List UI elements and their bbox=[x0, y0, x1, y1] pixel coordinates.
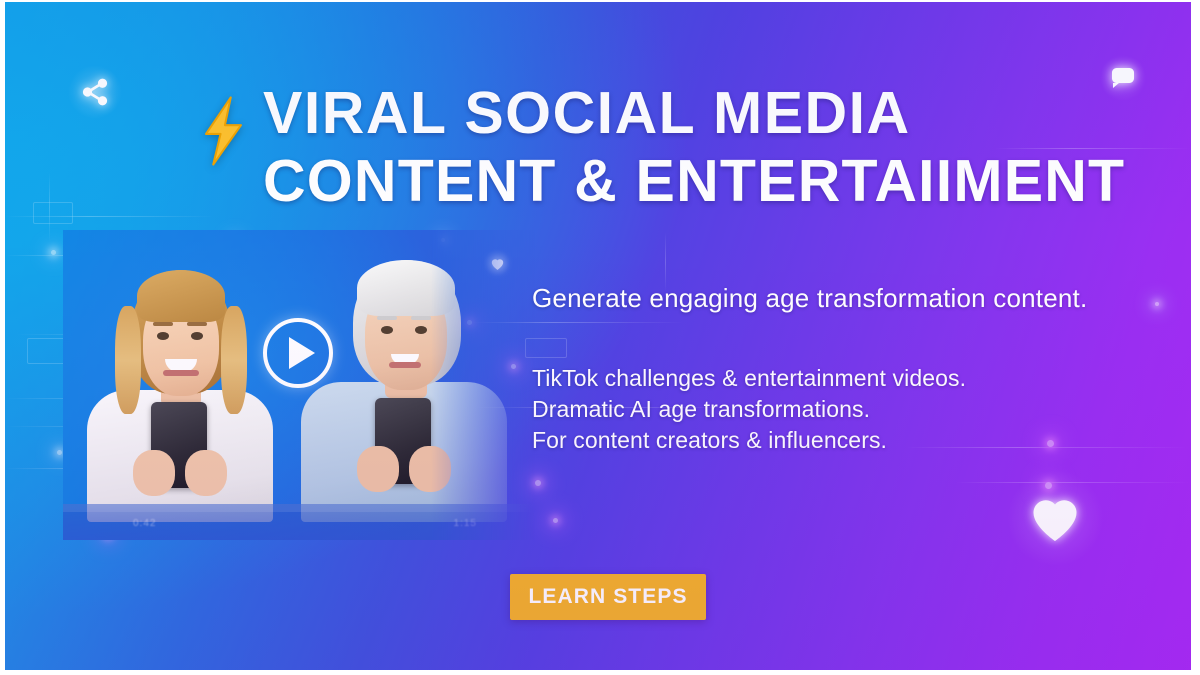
lead-paragraph: Generate engaging age transformation con… bbox=[532, 281, 1087, 315]
glow-dot bbox=[535, 480, 541, 486]
list-item: TikTok challenges & entertainment videos… bbox=[532, 363, 966, 394]
glow-dot bbox=[553, 518, 558, 523]
video-progress-track[interactable] bbox=[63, 504, 535, 512]
player-time-right: 1:15 bbox=[454, 518, 477, 529]
glow-dot bbox=[1155, 302, 1159, 306]
heart-large-icon bbox=[1005, 468, 1105, 568]
learn-steps-button[interactable]: LEARN STEPS bbox=[510, 574, 706, 620]
lightning-bolt-icon bbox=[191, 96, 253, 166]
glow-dot bbox=[57, 450, 62, 455]
circuit-chip bbox=[33, 202, 73, 224]
feature-list: TikTok challenges & entertainment videos… bbox=[532, 363, 966, 456]
player-time-left: 0:42 bbox=[133, 518, 156, 529]
right-person-older-woman bbox=[299, 248, 509, 522]
headline-block: VIRAL SOCIAL MEDIA CONTENT & ENTERTAIIME… bbox=[191, 80, 1091, 214]
list-item: For content creators & influencers. bbox=[532, 425, 966, 456]
share-icon bbox=[67, 64, 123, 120]
video-player-bar[interactable]: 0:42 1:15 bbox=[63, 504, 535, 540]
play-button[interactable] bbox=[263, 318, 333, 388]
circuit-line bbox=[5, 216, 215, 217]
glow-dot bbox=[1047, 440, 1054, 447]
glow-dot bbox=[51, 250, 56, 255]
chat-bubble-rounded-icon bbox=[1099, 54, 1147, 102]
headline-line-2: CONTENT & ENTERTAIIMENT bbox=[263, 148, 1091, 214]
circuit-line bbox=[49, 172, 50, 242]
play-triangle-icon bbox=[289, 337, 315, 369]
headline-line-1: VIRAL SOCIAL MEDIA bbox=[263, 80, 1091, 146]
left-person-young-woman bbox=[81, 254, 281, 522]
promo-banner: VIRAL SOCIAL MEDIA CONTENT & ENTERTAIIME… bbox=[5, 2, 1191, 670]
list-item: Dramatic AI age transformations. bbox=[532, 394, 966, 425]
